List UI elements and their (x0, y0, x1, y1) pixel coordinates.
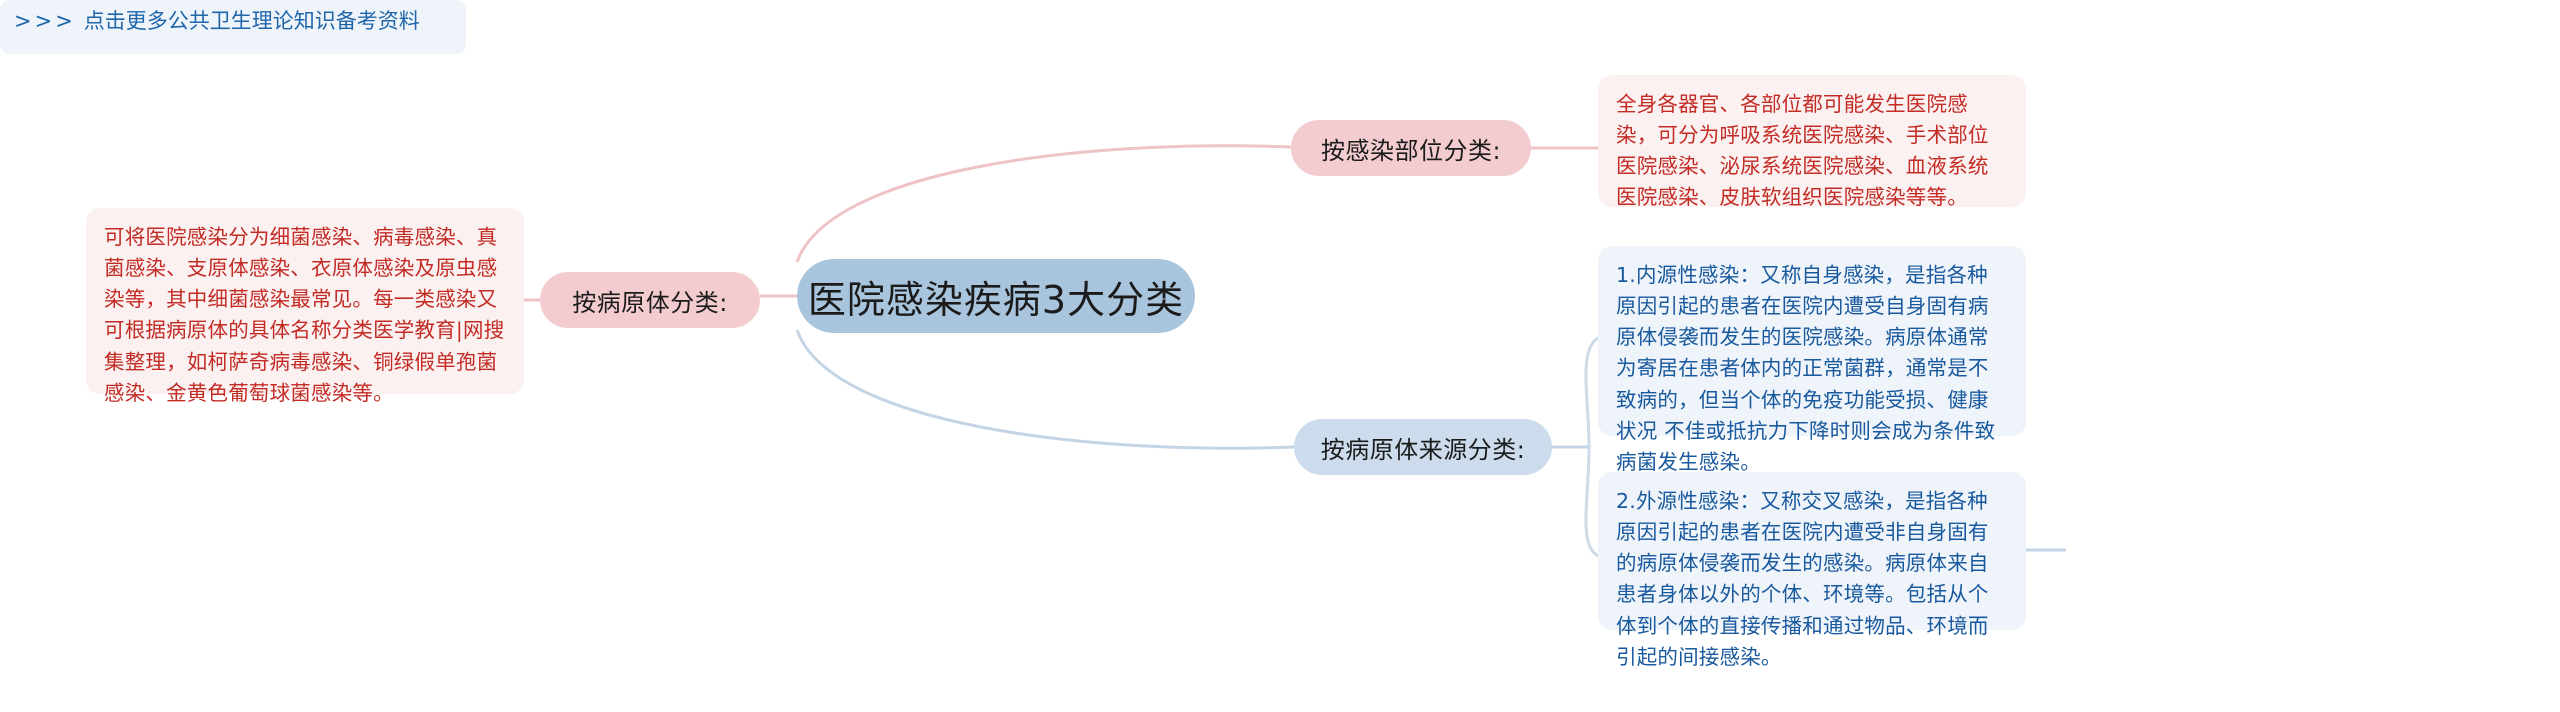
panel-exogenous-infection: 2.外源性感染：又称交叉感染，是指各种原因引起的患者在医院内遭受非自身固有的病原… (1598, 472, 2026, 630)
chevron-right-icon: >>> (14, 9, 76, 33)
footer-link[interactable]: >>>点击更多公共卫生理论知识备考资料 (0, 0, 466, 54)
mindmap-canvas: 医院感染疾病3大分类 按感染部位分类: 按病原体分类: 按病原体来源分类: 可将… (0, 0, 2560, 712)
branch-node-site[interactable]: 按感染部位分类: (1291, 120, 1531, 176)
panel-site-detail: 全身各器官、各部位都可能发生医院感染，可分为呼吸系统医院感染、手术部位医院感染、… (1598, 75, 2026, 207)
panel-pathogen-detail: 可将医院感染分为细菌感染、病毒感染、真菌感染、支原体感染、衣原体感染及原虫感染等… (86, 208, 524, 394)
branch-node-pathogen[interactable]: 按病原体分类: (540, 272, 760, 328)
center-node[interactable]: 医院感染疾病3大分类 (797, 259, 1195, 333)
panel-endogenous-infection: 1.内源性感染：又称自身感染，是指各种原因引起的患者在医院内遭受自身固有病原体侵… (1598, 246, 2026, 436)
connector-center-to-source (797, 330, 1294, 448)
connector-source-to-endogenous (1586, 338, 1598, 447)
connector-source-to-exogenous (1586, 447, 1598, 556)
footer-link-label: 点击更多公共卫生理论知识备考资料 (84, 9, 420, 33)
connector-center-to-site (797, 146, 1291, 262)
branch-node-source[interactable]: 按病原体来源分类: (1294, 419, 1552, 475)
